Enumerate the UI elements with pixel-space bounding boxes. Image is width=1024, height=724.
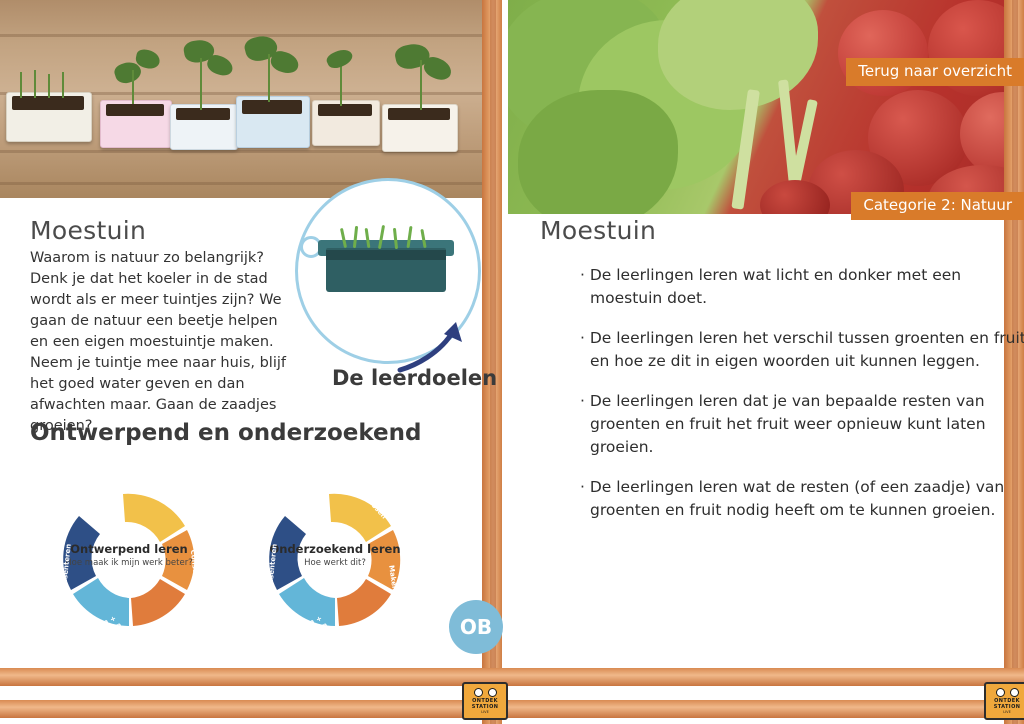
cycle2-center-title: Onderzoekend leren — [240, 542, 430, 556]
beam-horizontal-top — [0, 668, 1024, 686]
logo-line-3: LIVE — [481, 710, 489, 714]
photo-seed-trays — [0, 0, 482, 198]
list-item: · De leerlingen leren wat licht en donke… — [580, 264, 1024, 310]
cycle-diagram-onderzoekend: Onderzoekend leren Hoe werkt dit? Verken… — [240, 478, 430, 653]
list-item: · De leerlingen leren het verschil tusse… — [580, 327, 1024, 373]
right-page-title: Moestuin — [540, 216, 656, 245]
photo-radishes — [508, 0, 1024, 214]
left-subheading: Ontwerpend en onderzoekend — [30, 420, 421, 446]
beam-horizontal-bottom — [0, 700, 1024, 718]
left-page-title: Moestuin — [30, 216, 146, 245]
list-item: · De leerlingen leren dat je van bepaald… — [580, 390, 1024, 459]
ontdekstation-logo-left: ONTDEK STATION LIVE — [462, 682, 508, 720]
learning-goals-label: De leerdoelen — [332, 366, 497, 390]
cycle-diagram-ontwerpend: Ontwerpend leren Hoe maak ik mijn werk b… — [34, 478, 224, 653]
ontdekstation-logo-right: ONTDEK STATION LIVE — [984, 682, 1024, 720]
planter-box-icon — [318, 228, 454, 294]
list-item: · De leerlingen leren wat de resten (of … — [580, 476, 1024, 522]
category-badge[interactable]: Categorie 2: Natuur — [851, 192, 1024, 220]
back-to-overview-button[interactable]: Terug naar overzicht — [846, 58, 1024, 86]
level-badge-ob: OB — [449, 600, 503, 654]
learning-goals-list: · De leerlingen leren wat licht en donke… — [540, 264, 1024, 539]
worksheet-page: Terug naar overzicht Categorie 2: Natuur… — [0, 0, 1024, 724]
left-intro-text: Waarom is natuur zo belangrijk? Denk je … — [30, 248, 288, 437]
logo-line-3: LIVE — [1003, 710, 1011, 714]
